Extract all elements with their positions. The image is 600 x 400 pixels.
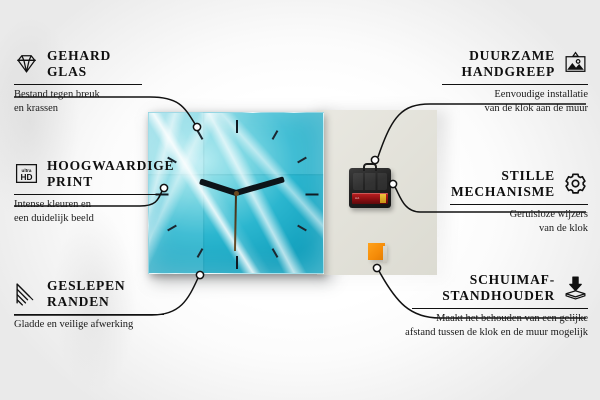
- svg-text:HD: HD: [20, 172, 32, 182]
- infographic-canvas: AA: [0, 0, 600, 400]
- feature-subtitle: Gladde en veilige afwerking: [14, 318, 186, 331]
- connector-dot-geslepen-randen: [196, 271, 203, 278]
- feature-divider: [14, 194, 160, 195]
- diamond-icon: [14, 51, 39, 76]
- feature-title: GEHARD GLAS: [47, 48, 111, 80]
- feature-subtitle: Eenvoudige installatie van de klok aan d…: [420, 88, 588, 115]
- connector-dot-schuimafstandhouder: [373, 264, 380, 271]
- connector-dot-stille-mechanisme: [389, 180, 396, 187]
- feature-hoogwaardige-print: ultra HD HOOGWAARDIGE PRINT Intense kleu…: [14, 158, 182, 225]
- feature-stille-mechanisme: STILLE MECHANISME Geruisloze wijzers van…: [428, 168, 588, 235]
- feature-title: GESLEPEN RANDEN: [47, 278, 125, 310]
- feature-title: STILLE MECHANISME: [451, 168, 555, 200]
- feature-divider: [14, 314, 164, 315]
- feature-divider: [14, 84, 142, 85]
- feature-subtitle: Maakt het behouden van een gelijke afsta…: [392, 312, 588, 339]
- connector-dot-gehard-glas: [193, 123, 200, 130]
- feature-geslepen-randen: GESLEPEN RANDEN Gladde en veilige afwerk…: [14, 278, 186, 332]
- feature-title: SCHUIMAF- STANDHOUDER: [442, 272, 555, 304]
- feature-subtitle: Geruisloze wijzers van de klok: [428, 208, 588, 235]
- beveled-edges-icon: [14, 281, 39, 306]
- picture-frame-icon: [563, 51, 588, 76]
- connector-dot-duurzame-handgreep: [371, 156, 378, 163]
- ultra-hd-icon: ultra HD: [14, 161, 39, 186]
- feature-schuimafstandhouder: SCHUIMAF- STANDHOUDER Maakt het behouden…: [392, 272, 588, 339]
- feature-divider: [412, 308, 588, 309]
- feature-gehard-glas: GEHARD GLAS Bestand tegen breuk en krass…: [14, 48, 166, 115]
- feature-subtitle: Intense kleuren en een duidelijk beeld: [14, 198, 182, 225]
- feature-subtitle: Bestand tegen breuk en krassen: [14, 88, 166, 115]
- press-down-arrow-icon: [563, 275, 588, 300]
- feature-duurzame-handgreep: DUURZAME HANDGREEP Eenvoudige installati…: [420, 48, 588, 115]
- feature-title: HOOGWAARDIGE PRINT: [47, 158, 174, 190]
- feature-title: DUURZAME HANDGREEP: [462, 48, 555, 80]
- gear-icon: [563, 171, 588, 196]
- feature-divider: [442, 84, 588, 85]
- feature-divider: [450, 204, 588, 205]
